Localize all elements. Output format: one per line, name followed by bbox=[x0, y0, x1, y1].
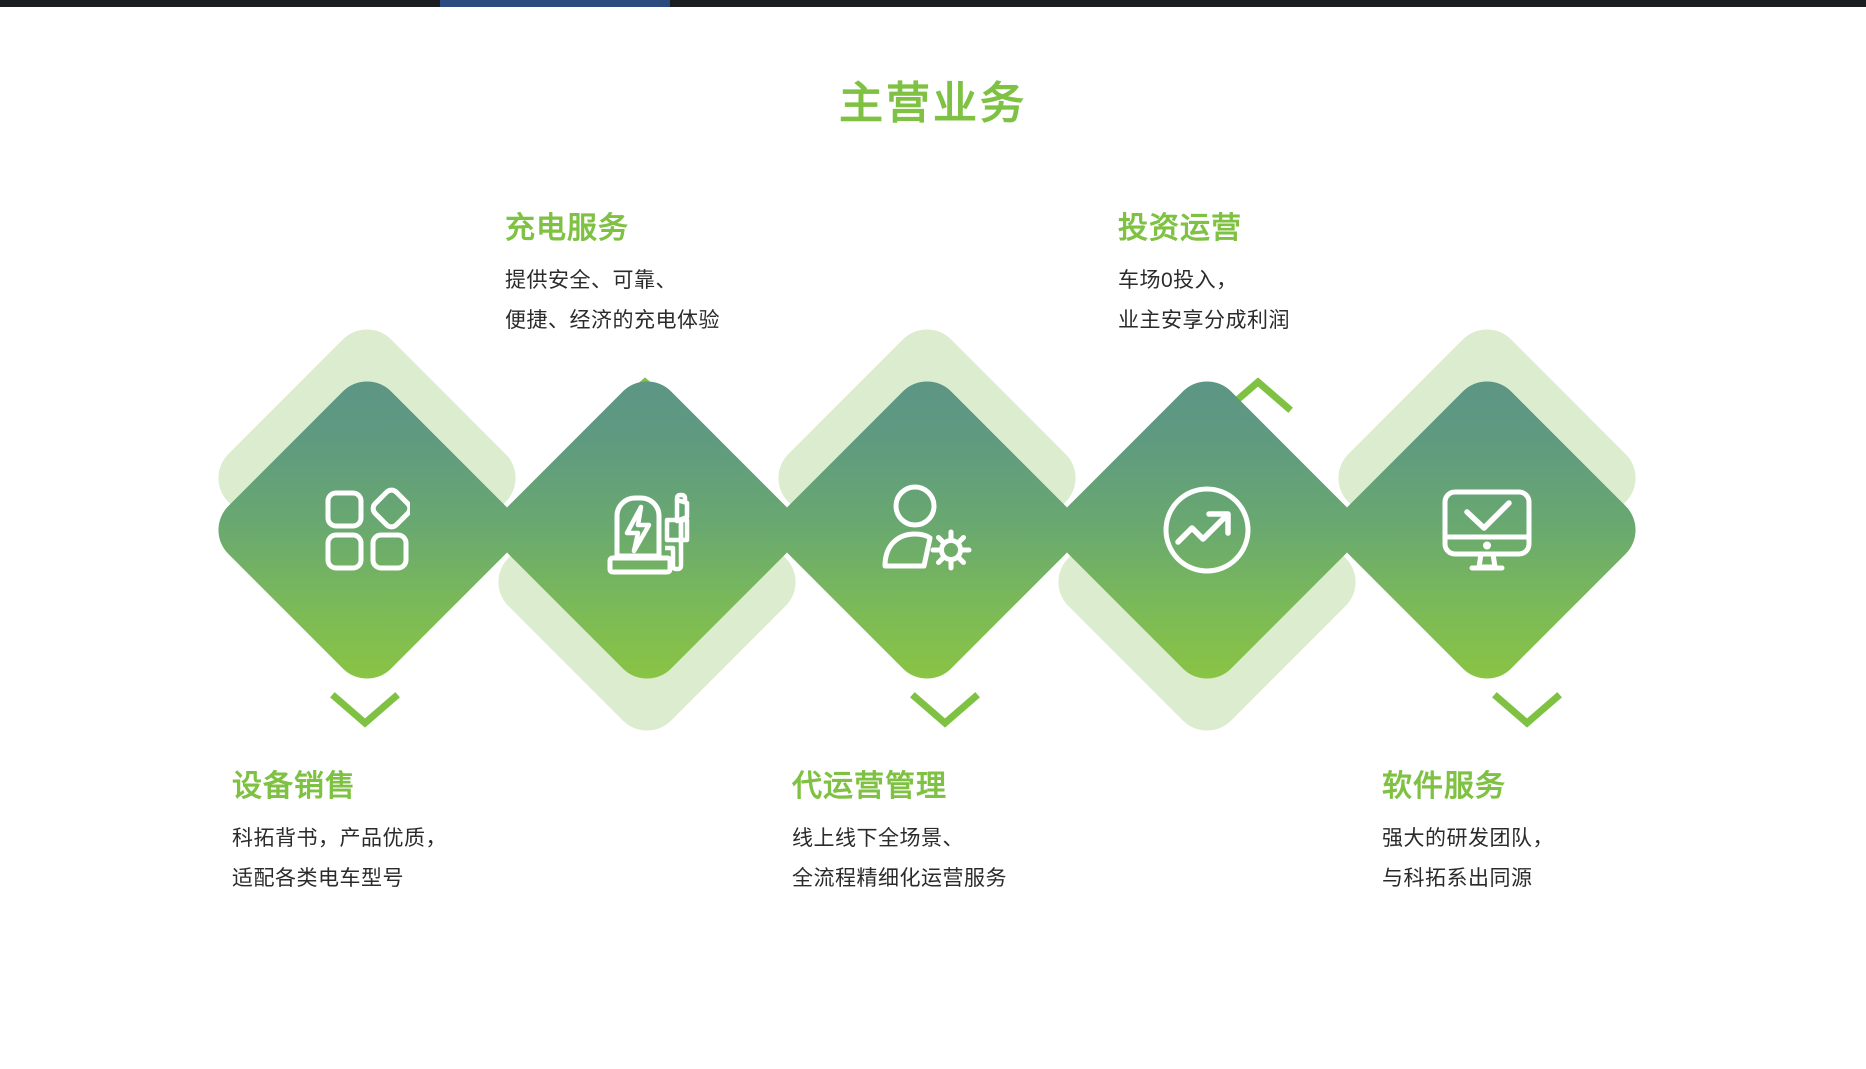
caption-line-operation-management-1: 线上线下全场景、 bbox=[792, 819, 1212, 860]
node-equipment-sales[interactable] bbox=[222, 385, 512, 675]
trending-up-circle-icon bbox=[1092, 415, 1322, 645]
caption-software-service: 软件服务 强大的研发团队， 与科拓系出同源 bbox=[1382, 768, 1802, 900]
caption-title-software-service: 软件服务 bbox=[1382, 768, 1802, 806]
connector-1-chevron-down-icon bbox=[330, 690, 400, 730]
caption-equipment-sales: 设备销售 科拓背书，产品优质， 适配各类电车型号 bbox=[232, 768, 652, 900]
caption-line-software-service-1: 强大的研发团队， bbox=[1382, 819, 1802, 860]
caption-line-operation-management-2: 全流程精细化运营服务 bbox=[792, 859, 1212, 900]
node-operation-management[interactable] bbox=[782, 385, 1072, 675]
caption-line-investment-operation-1: 车场0投入， bbox=[1118, 261, 1538, 302]
caption-title-operation-management: 代运营管理 bbox=[792, 768, 1212, 806]
node-software-service[interactable] bbox=[1342, 385, 1632, 675]
caption-investment-operation: 投资运营 车场0投入， 业主安享分成利润 bbox=[1118, 210, 1538, 342]
grid-squares-icon bbox=[252, 415, 482, 645]
node-investment-operation[interactable] bbox=[1062, 385, 1352, 675]
user-gear-icon bbox=[812, 415, 1042, 645]
caption-title-charging-service: 充电服务 bbox=[505, 210, 925, 248]
monitor-check-icon bbox=[1372, 415, 1602, 645]
connector-3-chevron-down-icon bbox=[910, 690, 980, 730]
caption-line-charging-service-2: 便捷、经济的充电体验 bbox=[505, 301, 925, 342]
caption-line-equipment-sales-1: 科拓背书，产品优质， bbox=[232, 819, 652, 860]
browser-tab-indicator bbox=[440, 0, 670, 7]
infographic-canvas: 主营业务 充电服务 提供安全、可靠、 便捷、经济的充电体验 投资运营 车场0投入… bbox=[0, 0, 1866, 1069]
node-charging-service[interactable] bbox=[502, 385, 792, 675]
caption-line-charging-service-1: 提供安全、可靠、 bbox=[505, 261, 925, 302]
caption-title-equipment-sales: 设备销售 bbox=[232, 768, 652, 806]
caption-line-equipment-sales-2: 适配各类电车型号 bbox=[232, 859, 652, 900]
caption-operation-management: 代运营管理 线上线下全场景、 全流程精细化运营服务 bbox=[792, 768, 1212, 900]
browser-chrome-strip bbox=[0, 0, 1866, 7]
charging-station-icon bbox=[532, 415, 762, 645]
caption-charging-service: 充电服务 提供安全、可靠、 便捷、经济的充电体验 bbox=[505, 210, 925, 342]
caption-line-software-service-2: 与科拓系出同源 bbox=[1382, 859, 1802, 900]
page-title: 主营业务 bbox=[0, 78, 1866, 131]
connector-5-chevron-down-icon bbox=[1492, 690, 1562, 730]
caption-title-investment-operation: 投资运营 bbox=[1118, 210, 1538, 248]
